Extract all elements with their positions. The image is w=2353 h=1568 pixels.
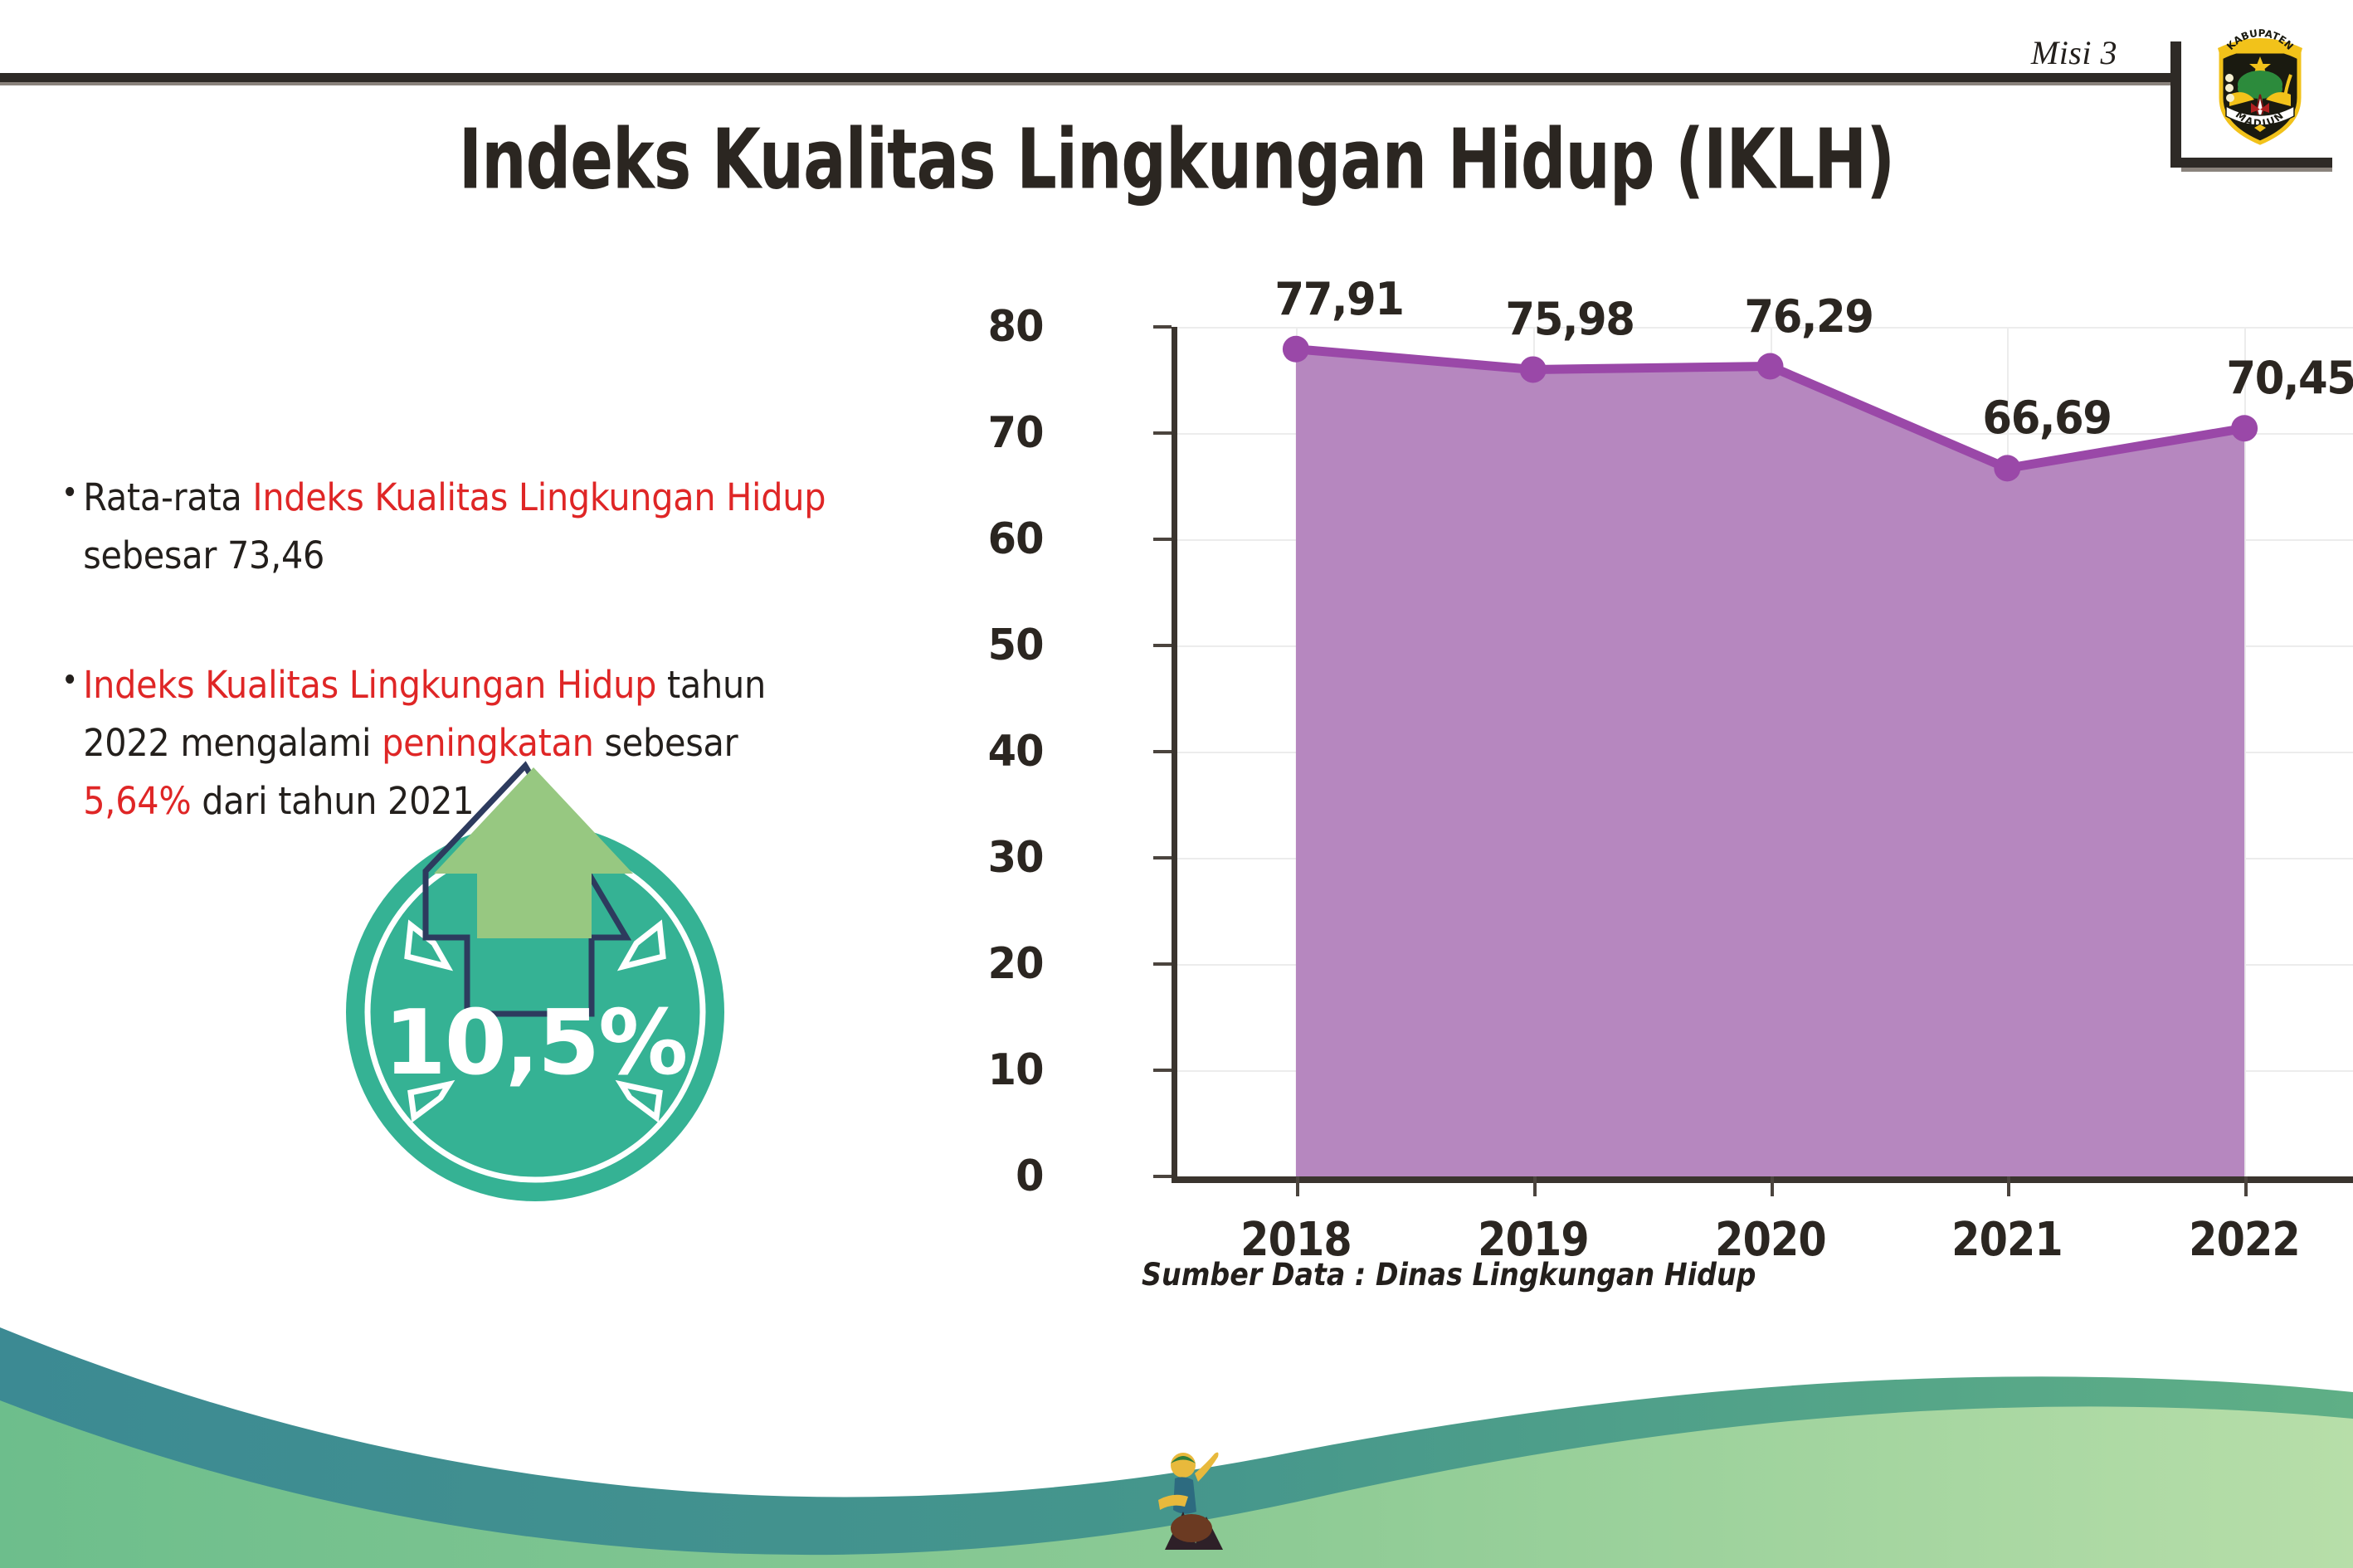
data-label: 75,98 (1505, 293, 1634, 345)
bullet-dot-icon (66, 674, 74, 684)
highlight-text: Indeks Kualitas Lingkungan Hidup (252, 475, 826, 519)
increase-badge: 10,5% (328, 759, 743, 1207)
plain-text: Rata-rata (83, 475, 252, 519)
y-tick-mark (1153, 431, 1172, 435)
bullet-text-0: Rata-rata Indeks Kualitas Lingkungan Hid… (66, 469, 853, 585)
y-tick-label: 40 (902, 727, 1044, 777)
y-tick-mark (1153, 1069, 1172, 1072)
x-tick-label: 2022 (2150, 1213, 2340, 1267)
data-point-marker (1283, 336, 1309, 363)
page-title: Indeks Kualitas Lingkungan Hidup (IKLH) (82, 112, 2270, 208)
header-rule-shadow (0, 82, 2170, 85)
highlight-text: 5,64% (83, 779, 191, 823)
highlight-text: Indeks Kualitas Lingkungan Hidup (83, 663, 656, 707)
area-fill (1296, 349, 2244, 1176)
plain-text: sebesar 73,46 (83, 533, 324, 577)
infografis-figure-icon (1155, 1449, 1235, 1553)
header-rule (0, 73, 2170, 82)
x-tick-label: 2021 (1912, 1213, 2102, 1267)
y-tick-label: 20 (902, 939, 1044, 989)
y-tick-label: 60 (902, 514, 1044, 564)
data-label: 77,91 (1274, 273, 1403, 325)
y-tick-label: 30 (902, 833, 1044, 883)
y-tick-mark (1153, 962, 1172, 966)
data-point-marker (1520, 356, 1547, 382)
y-tick-mark (1153, 750, 1172, 753)
data-point-marker (2231, 415, 2258, 441)
y-tick-label: 70 (902, 408, 1044, 458)
data-label: 76,29 (1744, 290, 1873, 343)
data-point-marker (1757, 353, 1784, 379)
bullet-dot-icon (66, 487, 74, 496)
misi-label: Misi 3 (2031, 33, 2117, 72)
list-item: Rata-rata Indeks Kualitas Lingkungan Hid… (66, 469, 853, 585)
y-tick-label: 50 (902, 621, 1044, 670)
y-tick-mark (1153, 1175, 1172, 1178)
y-tick-mark (1153, 856, 1172, 859)
chart-series (1172, 315, 2353, 1183)
y-tick-mark (1153, 644, 1172, 647)
chart-source-note: Sumber Data : Dinas Lingkungan Hidup (1142, 1257, 1756, 1293)
iklh-area-chart: 01020304050607080 77,9175,9876,2966,6970… (979, 290, 2273, 1211)
y-tick-label: 80 (902, 302, 1044, 352)
data-point-marker (1994, 455, 2020, 481)
y-tick-mark (1153, 325, 1172, 329)
y-tick-label: 0 (902, 1152, 1044, 1201)
y-tick-mark (1153, 538, 1172, 541)
chart-plot-area: 01020304050607080 77,9175,9876,2966,6970… (1070, 315, 2265, 1186)
badge-value: 10,5% (328, 991, 743, 1095)
data-label: 66,69 (1983, 392, 2112, 444)
y-tick-label: 10 (902, 1045, 1044, 1095)
data-label: 70,45 (2227, 352, 2353, 404)
